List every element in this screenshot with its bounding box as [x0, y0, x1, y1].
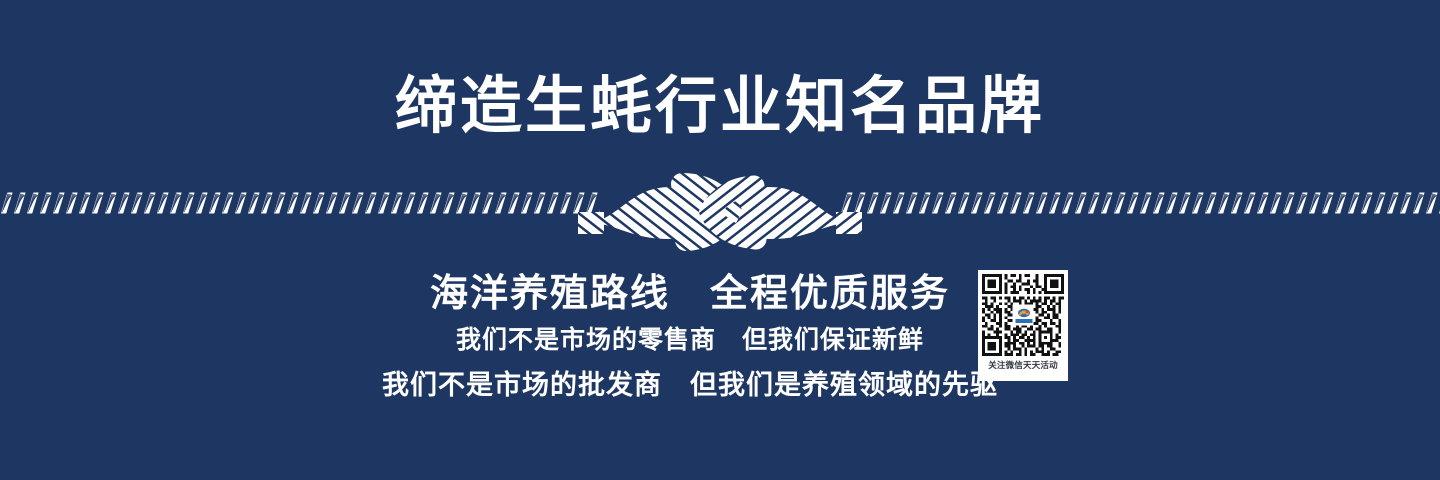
rope-strand-right [840, 190, 1440, 216]
reef-knot-icon [578, 166, 862, 258]
qr-code-card[interactable]: 关注微信天天活动 [978, 270, 1068, 381]
promo-banner: 缔造生蚝行业知名品牌 [0, 0, 1440, 480]
rope-strand-left [0, 190, 600, 216]
qr-center-logo-icon [1013, 305, 1034, 326]
description-line-1: 我们不是市场的零售商 但我们保证新鲜 [0, 320, 1380, 356]
subtitle: 海洋养殖路线 全程优质服务 [0, 262, 1380, 317]
qr-code-image[interactable] [982, 274, 1064, 356]
qr-caption: 关注微信天天活动 [982, 356, 1064, 374]
page-title: 缔造生蚝行业知名品牌 [0, 72, 1440, 141]
description-line-2: 我们不是市场的批发商 但我们是养殖领域的先驱 [0, 363, 1380, 402]
